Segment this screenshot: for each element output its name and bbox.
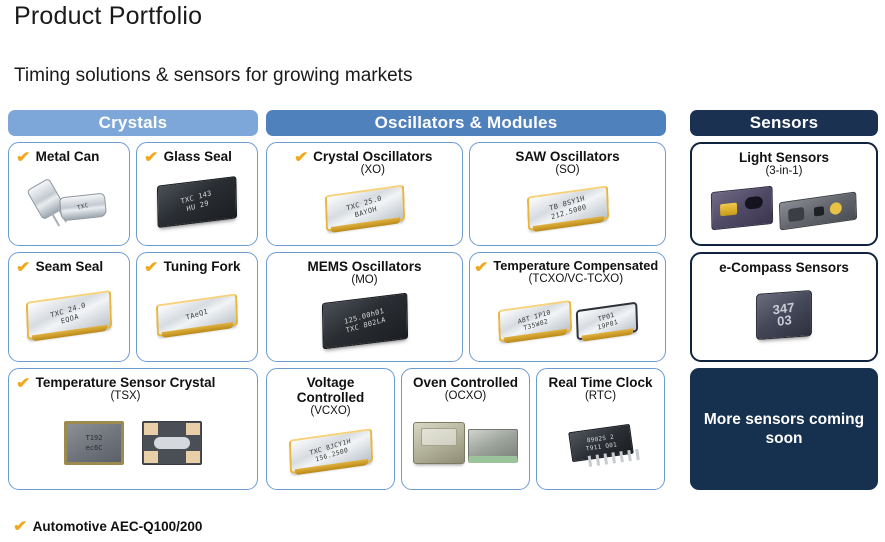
card-subtitle: (XO)	[311, 164, 434, 177]
card-ecompass-sensors[interactable]: e-Compass Sensors 347 03	[690, 252, 878, 362]
check-icon: ✔	[294, 150, 308, 165]
ocxo-smd-package-icon	[468, 429, 518, 463]
part-marking: 19P01	[596, 318, 618, 332]
part-marking: TXC 8JCY1H	[308, 437, 351, 457]
product-image-xo: TXC 25.0 BAYOH	[271, 177, 458, 241]
column-sensors: Sensors Light Sensors (3-in-1) e-Co	[690, 110, 878, 490]
tsx-top-view-icon: T192 ec6C	[64, 421, 124, 465]
card-subtitle: (3-in-1)	[737, 165, 831, 178]
part-marking: TXC 25.0	[345, 194, 382, 212]
card-subtitle: (OCXO)	[411, 390, 520, 403]
part-marking: 156.2500	[314, 446, 348, 464]
card-title: Real Time Clock	[546, 375, 654, 390]
product-image-ecompass: 347 03	[696, 275, 872, 356]
part-marking: 8902S 2	[586, 434, 614, 445]
column-oscillators: Oscillators & Modules ✔ Crystal Oscillat…	[266, 110, 666, 490]
card-title: Temperature Sensor Crystal	[34, 375, 218, 390]
product-image-light-sensors	[696, 178, 872, 240]
column-header-crystals: Crystals	[8, 110, 258, 136]
check-icon: ✔	[13, 519, 27, 534]
product-image-metal-can: TXC	[13, 165, 125, 241]
product-image-tuning-fork: TAeQ1	[141, 275, 253, 357]
card-subtitle: (TSX)	[34, 390, 218, 403]
rtc-soic-package-icon: 8902S 2 T911 Q01	[570, 428, 632, 458]
light-sensor-package-icon	[711, 189, 773, 227]
column-header-oscillators: Oscillators & Modules	[266, 110, 666, 136]
card-title: Temperature Compensated	[491, 259, 660, 273]
part-marking: ec6C	[86, 444, 103, 452]
xo-package-icon: TXC 25.0 BAYOH	[325, 190, 405, 226]
part-marking: TXC	[76, 202, 89, 212]
crystals-row-2: ✔ Seam Seal TXC 24.0 EQOA ✔ Tuning Fork	[8, 252, 258, 362]
seam-seal-package-icon: TXC 24.0 EQOA	[26, 296, 112, 334]
part-marking: 03	[777, 314, 792, 328]
card-saw-oscillators[interactable]: SAW Oscillators (SO) TB 8SY1H 212.5000	[469, 142, 666, 246]
glass-seal-package-icon: TXC 143 HU 29	[157, 181, 237, 223]
part-marking: BAYOH	[354, 205, 377, 219]
card-subtitle: (RTC)	[546, 390, 654, 403]
part-marking: TP01	[597, 310, 615, 323]
part-marking: T35W02	[522, 317, 548, 332]
card-title: Glass Seal	[162, 149, 234, 164]
metal-can-smd-icon: TXC	[60, 195, 106, 219]
part-marking: A8T IP10	[517, 308, 551, 326]
so-package-icon: TB 8SY1H 212.5000	[527, 191, 609, 225]
vcxo-package-icon: TXC 8JCY1H 156.2500	[289, 434, 373, 468]
product-image-mo: 125.00h01 TXC 802LA	[271, 287, 458, 357]
oscillators-row-2: MEMS Oscillators (MO) 125.00h01 TXC 802L…	[266, 252, 666, 362]
metal-can-crystal-icon	[33, 182, 59, 216]
legend-label: Automotive AEC-Q100/200	[33, 519, 203, 534]
card-mems-oscillators[interactable]: MEMS Oscillators (MO) 125.00h01 TXC 802L…	[266, 252, 463, 362]
part-marking: EQOA	[60, 312, 79, 325]
ocxo-package-icon	[413, 422, 465, 464]
page-subtitle: Timing solutions & sensors for growing m…	[14, 65, 412, 87]
column-header-sensors: Sensors	[690, 110, 878, 136]
card-temperature-sensor-crystal[interactable]: ✔ Temperature Sensor Crystal (TSX) T192 …	[8, 368, 258, 490]
card-title: Light Sensors	[737, 150, 831, 165]
card-subtitle: (VCXO)	[271, 405, 390, 418]
product-image-so: TB 8SY1H 212.5000	[474, 177, 661, 241]
product-image-rtc: 8902S 2 T911 Q01	[541, 403, 660, 485]
mo-package-icon: 125.00h01 TXC 802LA	[322, 298, 408, 344]
card-title: e-Compass Sensors	[717, 260, 851, 275]
card-subtitle: (MO)	[305, 274, 423, 287]
sensors-row-3: More sensors coming soon	[690, 368, 878, 490]
part-marking: TB 8SY1H	[548, 194, 585, 212]
vc-tcxo-package-icon: TP01 19P01	[576, 306, 638, 336]
check-icon: ✔	[144, 150, 158, 165]
crystals-row-3: ✔ Temperature Sensor Crystal (TSX) T192 …	[8, 368, 258, 490]
card-title: Tuning Fork	[162, 259, 243, 274]
card-title: Metal Can	[34, 149, 102, 164]
card-light-sensors[interactable]: Light Sensors (3-in-1)	[690, 142, 878, 246]
part-marking: TXC 143	[180, 189, 212, 206]
card-title: Crystal Oscillators	[311, 149, 434, 164]
product-image-tcxo: A8T IP10 T35W02 TP01 19P01	[474, 287, 661, 357]
ecompass-qfn-package-icon: 347 03	[756, 292, 812, 338]
card-seam-seal[interactable]: ✔ Seam Seal TXC 24.0 EQOA	[8, 252, 130, 362]
tcxo-package-icon: A8T IP10 T35W02	[498, 305, 572, 337]
oscillators-row-1: ✔ Crystal Oscillators (XO) TXC 25.0 BAYO…	[266, 142, 666, 246]
column-crystals: Crystals ✔ Metal Can TXC	[8, 110, 258, 490]
card-glass-seal[interactable]: ✔ Glass Seal TXC 143 HU 29	[136, 142, 258, 246]
part-marking: TXC 24.0	[50, 301, 87, 319]
part-marking: TXC 802LA	[345, 316, 386, 335]
check-icon: ✔	[16, 260, 30, 275]
card-title: Voltage Controlled	[271, 375, 390, 405]
card-temperature-compensated[interactable]: ✔ Temperature Compensated (TCXO/VC-TCXO)…	[469, 252, 666, 362]
check-icon: ✔	[144, 260, 158, 275]
card-oven-controlled[interactable]: Oven Controlled (OCXO)	[401, 368, 530, 490]
legend-automotive: ✔ Automotive AEC-Q100/200	[14, 518, 202, 534]
card-voltage-controlled[interactable]: Voltage Controlled (VCXO) TXC 8JCY1H 156…	[266, 368, 395, 490]
product-image-glass-seal: TXC 143 HU 29	[141, 165, 253, 241]
tuning-fork-package-icon: TAeQ1	[156, 299, 238, 331]
part-marking: HU 29	[186, 199, 209, 213]
card-title: Seam Seal	[34, 259, 106, 274]
card-subtitle: (SO)	[513, 164, 621, 177]
crystals-row-1: ✔ Metal Can TXC	[8, 142, 258, 246]
product-image-ocxo	[406, 403, 525, 485]
card-subtitle: (TCXO/VC-TCXO)	[491, 273, 660, 286]
check-icon: ✔	[474, 260, 488, 275]
part-marking: TAeQ1	[185, 307, 208, 321]
tsx-bottom-view-icon	[142, 421, 202, 465]
part-marking: 125.00h01	[343, 307, 384, 326]
part-marking: T192	[86, 434, 103, 442]
card-crystal-oscillators[interactable]: ✔ Crystal Oscillators (XO) TXC 25.0 BAYO…	[266, 142, 463, 246]
light-sensor-module-icon	[779, 197, 857, 225]
product-image-vcxo: TXC 8JCY1H 156.2500	[271, 418, 390, 485]
oscillators-row-3: Voltage Controlled (VCXO) TXC 8JCY1H 156…	[266, 368, 666, 490]
more-sensors-coming-soon-tile: More sensors coming soon	[690, 368, 878, 490]
card-title: MEMS Oscillators	[305, 259, 423, 274]
part-marking: 212.5000	[550, 203, 587, 221]
card-tuning-fork[interactable]: ✔ Tuning Fork TAeQ1	[136, 252, 258, 362]
product-image-tsx: T192 ec6C	[13, 403, 253, 485]
check-icon: ✔	[16, 376, 30, 391]
card-metal-can[interactable]: ✔ Metal Can TXC	[8, 142, 130, 246]
card-title: Oven Controlled	[411, 375, 520, 390]
check-icon: ✔	[16, 150, 30, 165]
page-title: Product Portfolio	[14, 2, 202, 31]
product-image-seam-seal: TXC 24.0 EQOA	[13, 275, 125, 357]
sensors-row-1: Light Sensors (3-in-1)	[690, 142, 878, 246]
card-title: SAW Oscillators	[513, 149, 621, 164]
sensors-row-2: e-Compass Sensors 347 03	[690, 252, 878, 362]
card-real-time-clock[interactable]: Real Time Clock (RTC) 8902S 2 T911 Q01	[536, 368, 665, 490]
